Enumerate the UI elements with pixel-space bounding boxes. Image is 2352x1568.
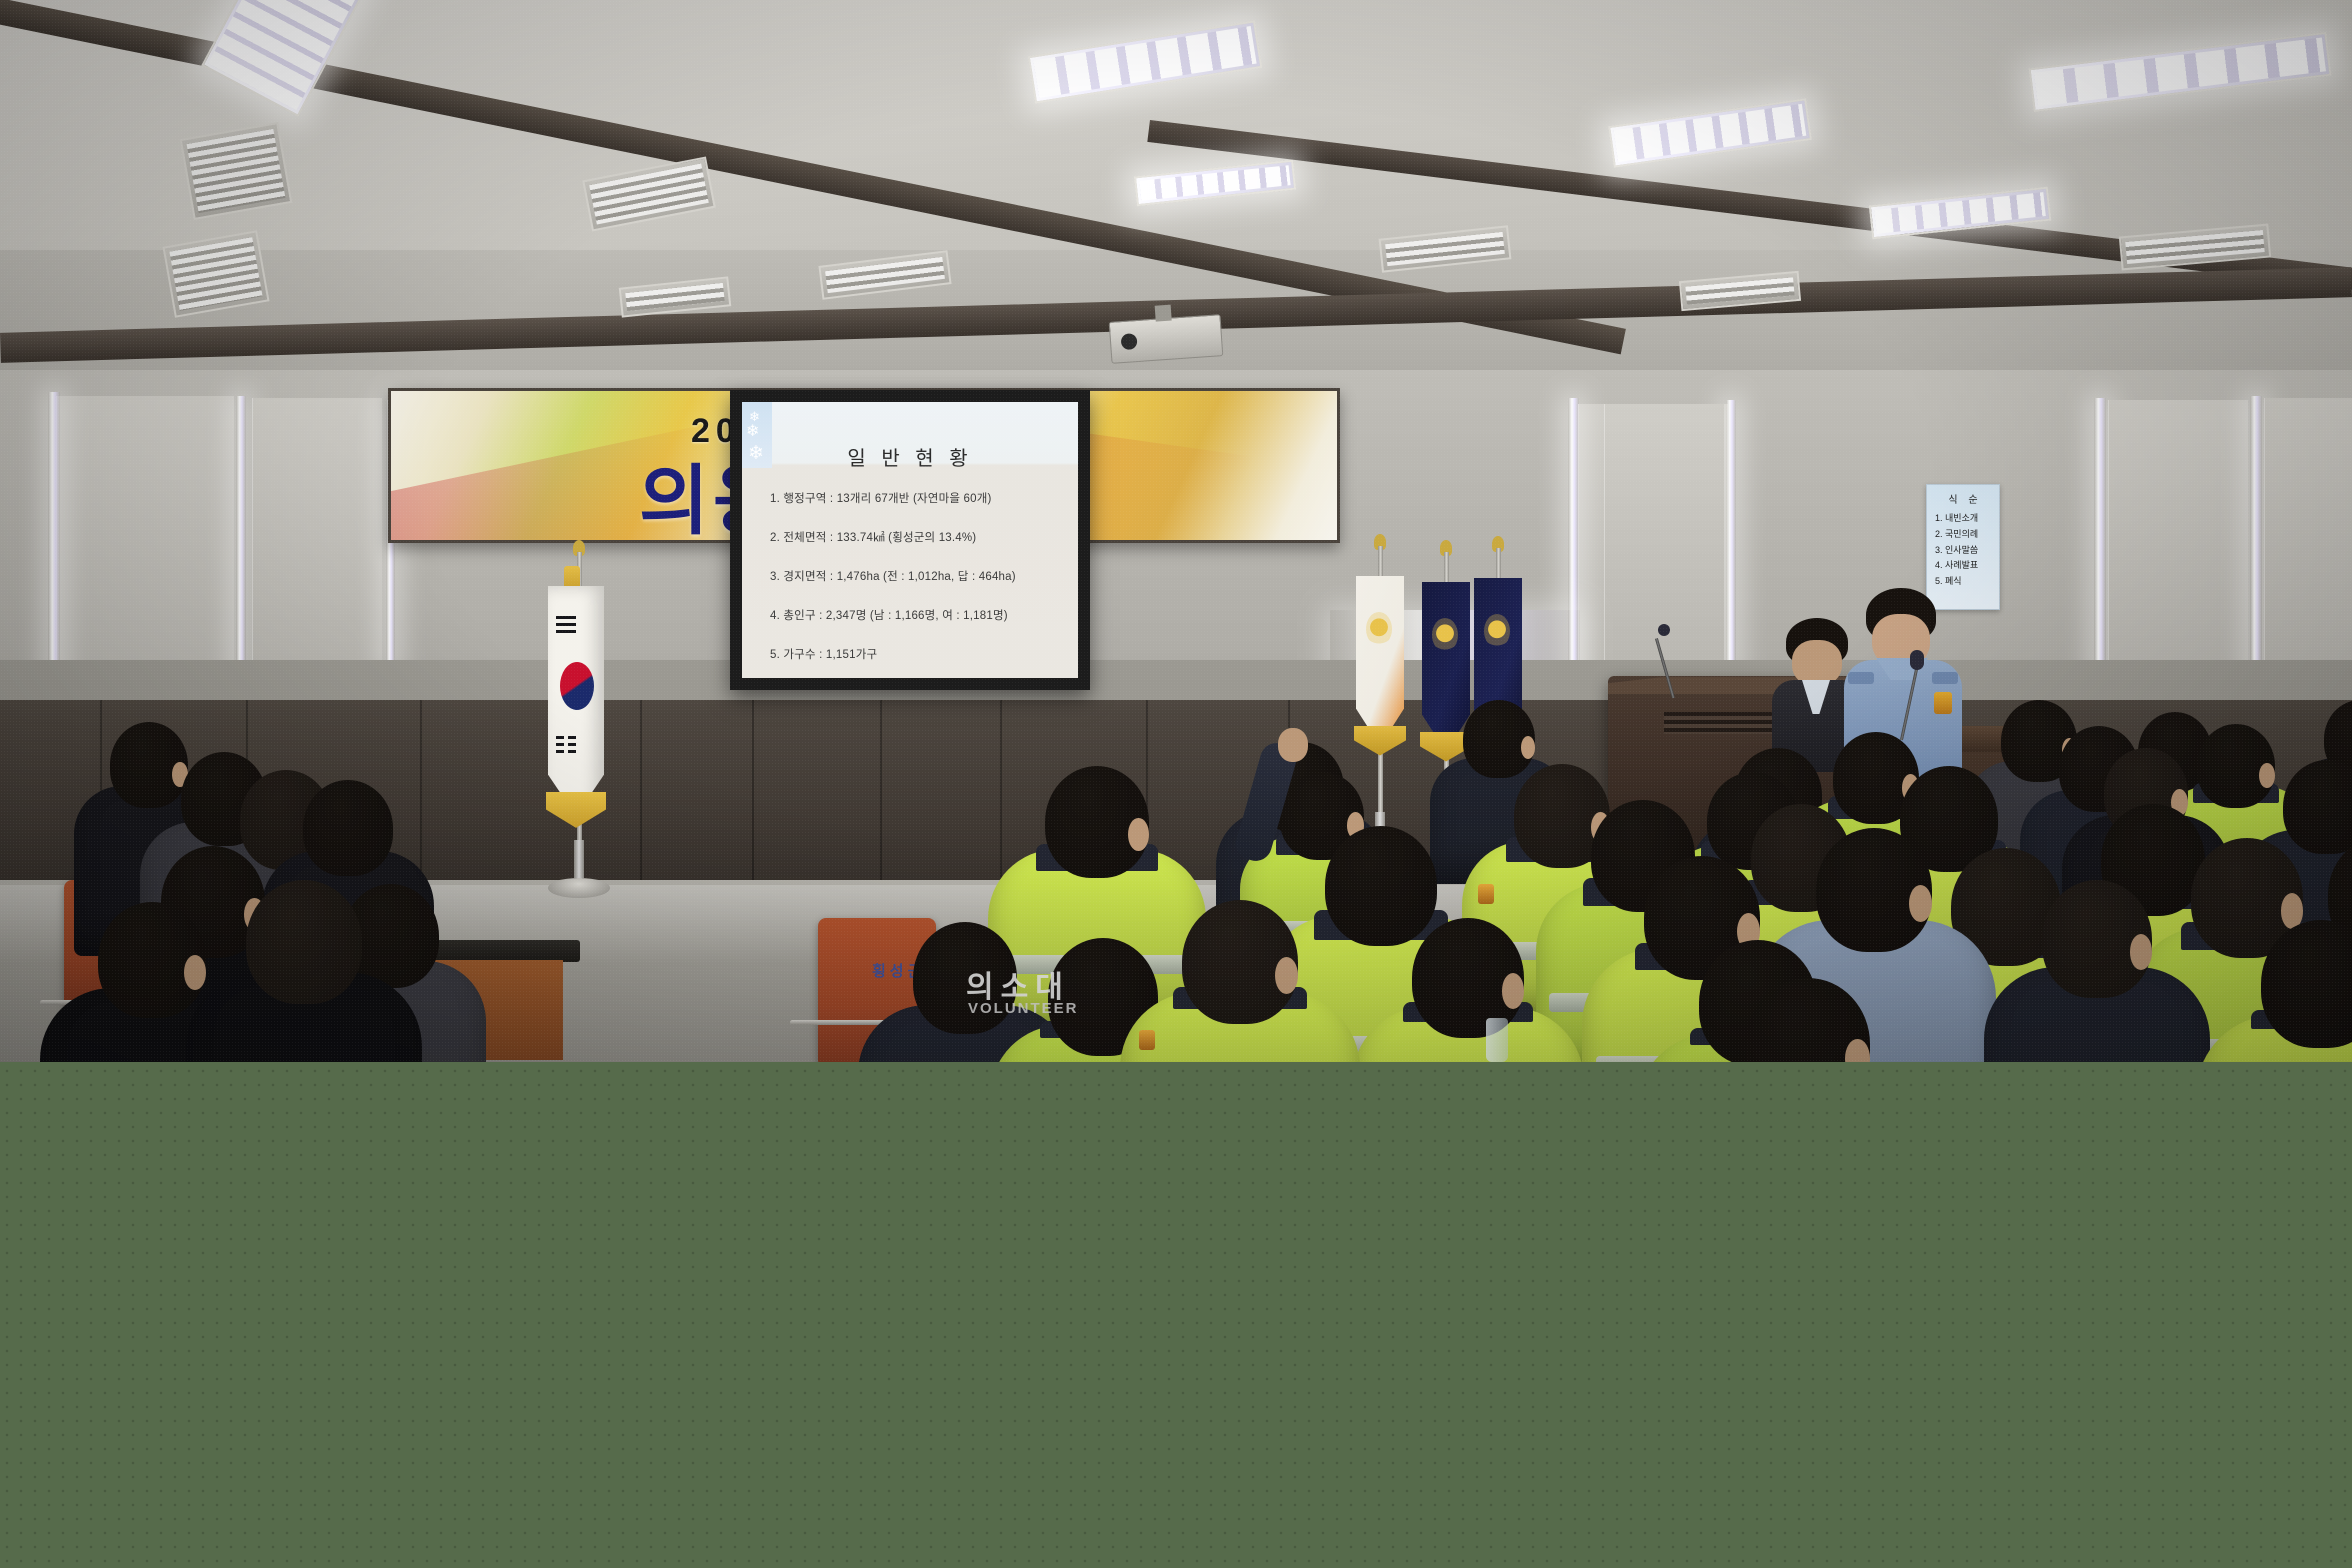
shoulder-patch-icon [1139,1030,1155,1050]
water-bottle[interactable] [1486,1018,1508,1062]
audience-member [2196,920,2352,1062]
audience-area: 횡성군청일면의소대VOLUNTEER [0,0,2352,1062]
audience-member [186,880,422,1062]
audience-ear [1128,818,1149,852]
audience-head [2261,920,2352,1048]
audience-member [1984,880,2210,1062]
conference-photo: 2013년도 의용소방대 사례 발표회 ❄ ❄ ❄ 일 반 현 황 1. 행정구… [0,0,2352,1062]
audience-head [303,780,393,876]
audience-member [1352,918,1584,1062]
audience-ear [1502,973,1524,1009]
audience-head [246,880,362,1004]
jacket-back-text-en: VOLUNTEER [968,1000,1079,1017]
audience-ear [1275,957,1298,994]
audience-ear [1521,736,1535,759]
audience-member [1680,978,1936,1062]
audience-ear [1909,885,1932,922]
audience-member [1120,900,1360,1062]
raised-hand [1278,728,1308,762]
audience-ear [2130,934,2152,969]
